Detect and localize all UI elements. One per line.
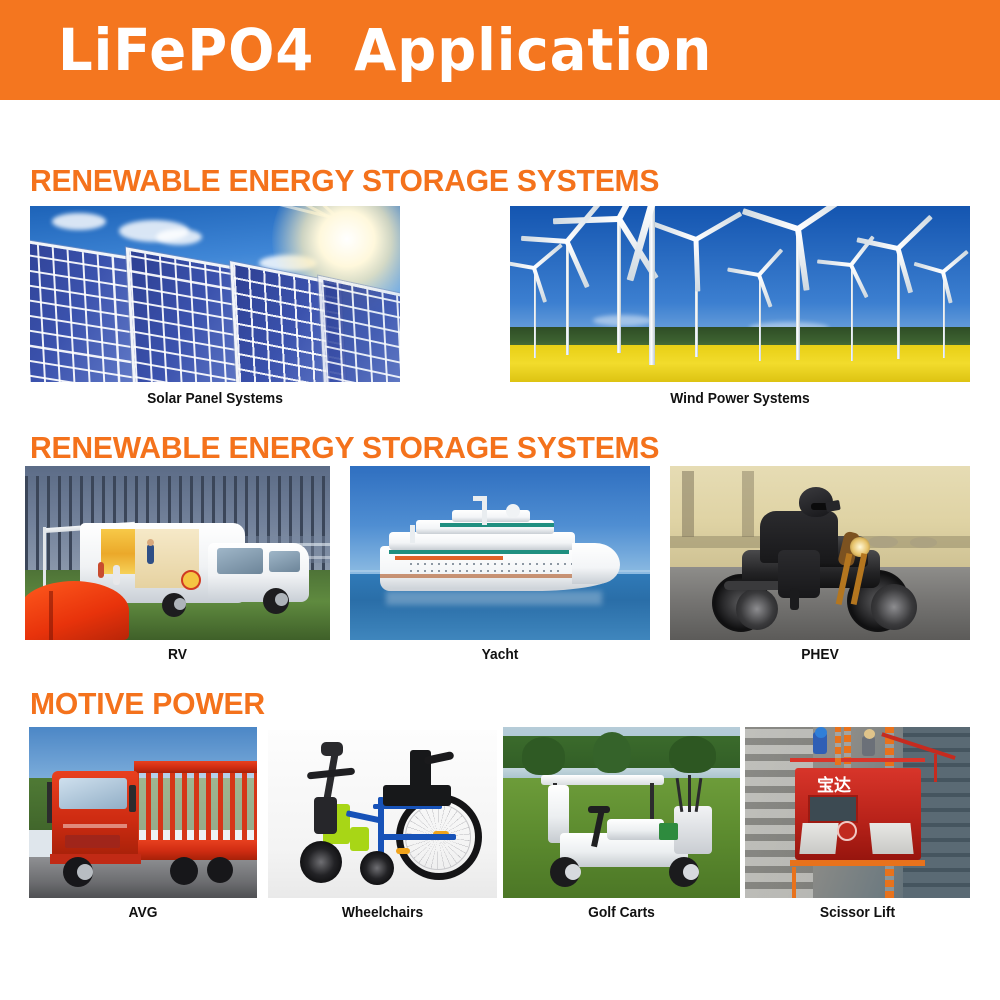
caption-yacht: Yacht [362, 646, 638, 663]
page-title: LiFePO4 Application [58, 16, 712, 84]
section-heading-renewable-1: RENEWABLE ENERGY STORAGE SYSTEMS [30, 163, 659, 199]
caption-golf-carts: Golf Carts [512, 904, 730, 921]
caption-rv: RV [37, 646, 318, 663]
wind-turbine-photo [510, 206, 970, 382]
cruise-ship-photo [350, 466, 650, 640]
section-heading-motive-power: MOTIVE POWER [30, 686, 265, 722]
cargo-truck-photo [29, 727, 257, 898]
card-golf-carts: Golf Carts [503, 727, 740, 898]
construction-hoist-photo: 宝达 [745, 727, 970, 898]
caption-scissor-lift: Scissor Lift [754, 904, 961, 921]
caption-wind-power-systems: Wind Power Systems [528, 390, 951, 407]
card-wheelchairs: Wheelchairs [268, 730, 497, 898]
card-phev: PHEV [670, 466, 970, 640]
caption-solar-panel-systems: Solar Panel Systems [45, 390, 385, 407]
solar-panel-photo [30, 206, 400, 382]
caption-wheelchairs: Wheelchairs [277, 904, 488, 921]
card-avg: AVG [29, 727, 257, 898]
card-solar-panel-systems: Solar Panel Systems [30, 206, 400, 382]
card-rv: RV [25, 466, 330, 640]
recreational-vehicle-photo [25, 466, 330, 640]
page-header-banner: LiFePO4 Application [0, 0, 1000, 100]
caption-phev: PHEV [682, 646, 958, 663]
card-scissor-lift: 宝达 Scissor Lift [745, 727, 970, 898]
electric-wheelchair-photo [268, 730, 497, 898]
section-heading-renewable-2: RENEWABLE ENERGY STORAGE SYSTEMS [30, 430, 659, 466]
caption-avg: AVG [38, 904, 248, 921]
hoist-brand-text: 宝达 [817, 771, 851, 796]
card-yacht: Yacht [350, 466, 650, 640]
motorcycle-photo [670, 466, 970, 640]
card-wind-power-systems: Wind Power Systems [510, 206, 970, 382]
golf-cart-photo [503, 727, 740, 898]
